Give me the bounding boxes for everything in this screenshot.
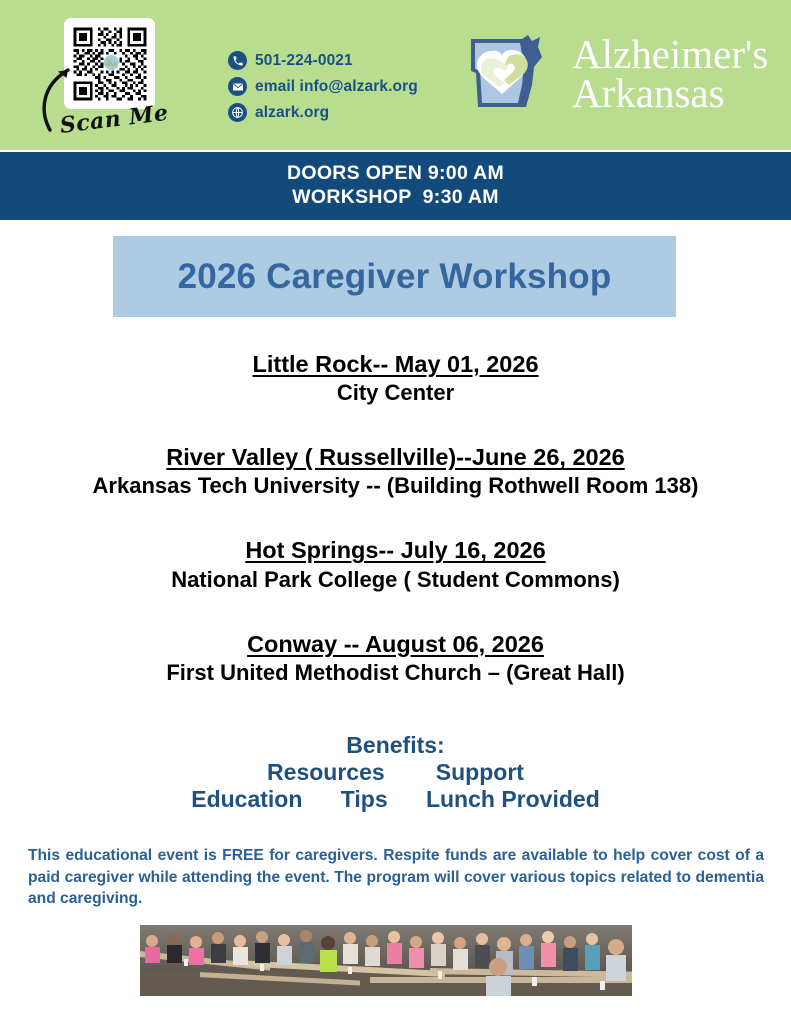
event-heading: River Valley ( Russellville)--June 26, 2… xyxy=(0,442,791,472)
contact-phone-row[interactable]: 501-224-0021 xyxy=(228,48,418,73)
arkansas-handshake-logo-icon xyxy=(462,33,560,115)
scan-me-block: Scan Me xyxy=(36,16,176,148)
envelope-icon xyxy=(228,77,247,96)
contact-email-row[interactable]: email info@alzark.org xyxy=(228,74,418,99)
event-list: Little Rock-- May 01, 2026 City Center R… xyxy=(0,349,791,687)
contact-website-row[interactable]: alzark.org xyxy=(228,100,418,125)
contact-list: 501-224-0021 email info@alzark.org alzar… xyxy=(228,48,418,126)
event-heading: Hot Springs-- July 16, 2026 xyxy=(0,535,791,565)
benefits-row-1: Resources Support xyxy=(0,759,791,786)
benefits-row-2: Education Tips Lunch Provided xyxy=(0,786,791,813)
event-item: Hot Springs-- July 16, 2026 National Par… xyxy=(0,535,791,593)
audience-seated-at-tables-photo xyxy=(140,925,632,996)
event-item: Conway -- August 06, 2026 First United M… xyxy=(0,629,791,687)
alzheimers-arkansas-logo: Alzheimer's Arkansas xyxy=(462,33,768,115)
event-item: Little Rock-- May 01, 2026 City Center xyxy=(0,349,791,407)
header-green-band: Scan Me 501-224-0021 email info@alzark.o… xyxy=(0,0,791,150)
globe-icon xyxy=(228,103,247,122)
page-title-box: 2026 Caregiver Workshop xyxy=(113,236,676,317)
logo-line-2: Arkansas xyxy=(572,74,768,113)
event-venue: Arkansas Tech University -- (Building Ro… xyxy=(0,472,791,500)
logo-line-1: Alzheimer's xyxy=(572,35,768,74)
phone-number: 501-224-0021 xyxy=(255,52,353,70)
benefits-section: Benefits: Resources Support Education Ti… xyxy=(0,732,791,813)
event-description-text: This educational event is FREE for careg… xyxy=(28,845,764,910)
logo-wordmark: Alzheimer's Arkansas xyxy=(572,35,768,113)
event-heading: Little Rock-- May 01, 2026 xyxy=(0,349,791,379)
event-heading: Conway -- August 06, 2026 xyxy=(0,629,791,659)
website-url: alzark.org xyxy=(255,104,329,122)
email-address: email info@alzark.org xyxy=(255,78,418,96)
event-venue: City Center xyxy=(0,379,791,407)
banner-line-2: WORKSHOP 9:30 AM xyxy=(292,186,499,210)
banner-line-1: DOORS OPEN 9:00 AM xyxy=(287,162,504,186)
benefits-title: Benefits: xyxy=(0,732,791,759)
event-venue: National Park College ( Student Commons) xyxy=(0,566,791,594)
phone-icon xyxy=(228,51,247,70)
doors-open-banner: DOORS OPEN 9:00 AM WORKSHOP 9:30 AM xyxy=(0,152,791,220)
event-item: River Valley ( Russellville)--June 26, 2… xyxy=(0,442,791,500)
page-title: 2026 Caregiver Workshop xyxy=(178,257,612,297)
event-venue: First United Methodist Church – (Great H… xyxy=(0,659,791,687)
